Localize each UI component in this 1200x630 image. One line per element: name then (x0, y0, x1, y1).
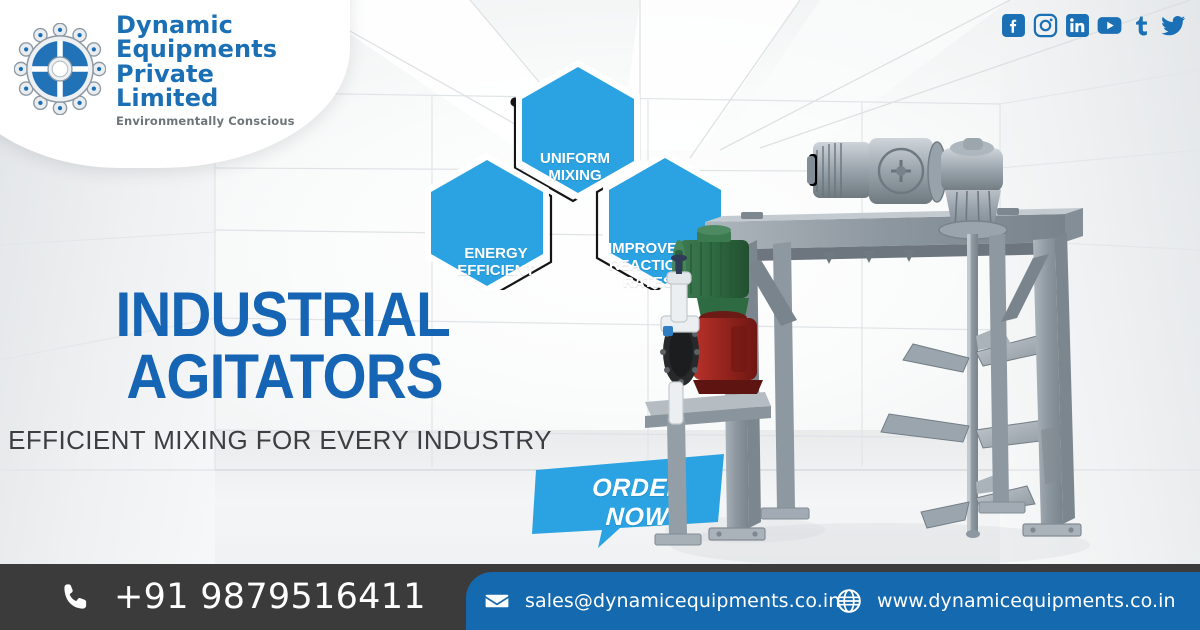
headline-line-1: INDUSTRIAL (28, 285, 532, 347)
gear-icon (14, 23, 106, 115)
agitator-illustration (645, 130, 1185, 570)
feature-line-2: EFFICIENT (432, 262, 560, 279)
brand-line-2: Equipments (116, 37, 314, 61)
website-url: www.dynamicequipments.co.in (877, 590, 1176, 612)
feature-label-energy-efficient: ENERGY EFFICIENT (432, 245, 560, 279)
footer-website[interactable]: www.dynamicequipments.co.in (836, 572, 1176, 630)
contact-footer: +91 9879516411 sales@dynamicequipments.c… (0, 564, 1200, 630)
feature-label-uniform-mixing: UNIFORM MIXING (510, 150, 640, 184)
brand-line-3: Private Limited (116, 62, 314, 111)
footer-email[interactable]: sales@dynamicequipments.co.in (484, 572, 840, 630)
social-links (1001, 13, 1186, 38)
facebook-icon[interactable] (1001, 13, 1026, 38)
feature-line-1: ENERGY (432, 245, 560, 262)
phone-icon (60, 581, 92, 613)
youtube-icon[interactable] (1097, 13, 1122, 38)
twitter-icon[interactable] (1161, 13, 1186, 38)
instagram-icon[interactable] (1033, 13, 1058, 38)
headline-block: INDUSTRIAL AGITATORS EFFICIENT MIXING FO… (0, 285, 560, 456)
headline-subtitle: EFFICIENT MIXING FOR EVERY INDUSTRY (0, 425, 560, 456)
headline-line-2: AGITATORS (28, 347, 532, 409)
email-address: sales@dynamicequipments.co.in (525, 590, 840, 612)
feature-line-1: UNIFORM (510, 150, 640, 167)
phone-number: +91 9879516411 (114, 577, 426, 617)
promo-banner: Dynamic Equipments Private Limited Envir… (0, 0, 1200, 630)
envelope-icon (484, 588, 510, 614)
brand-name: Dynamic Equipments Private Limited Envir… (116, 11, 314, 128)
brand-line-1: Dynamic (116, 13, 314, 37)
footer-phone[interactable]: +91 9879516411 (60, 564, 426, 630)
brand-logo[interactable]: Dynamic Equipments Private Limited Envir… (14, 14, 314, 124)
industrial-agitator-image (645, 130, 1185, 570)
tumblr-icon[interactable] (1129, 13, 1154, 38)
linkedin-icon[interactable] (1065, 13, 1090, 38)
brand-tagline: Environmentally Conscious (116, 116, 314, 128)
feature-line-2: MIXING (510, 167, 640, 184)
globe-icon (836, 588, 862, 614)
